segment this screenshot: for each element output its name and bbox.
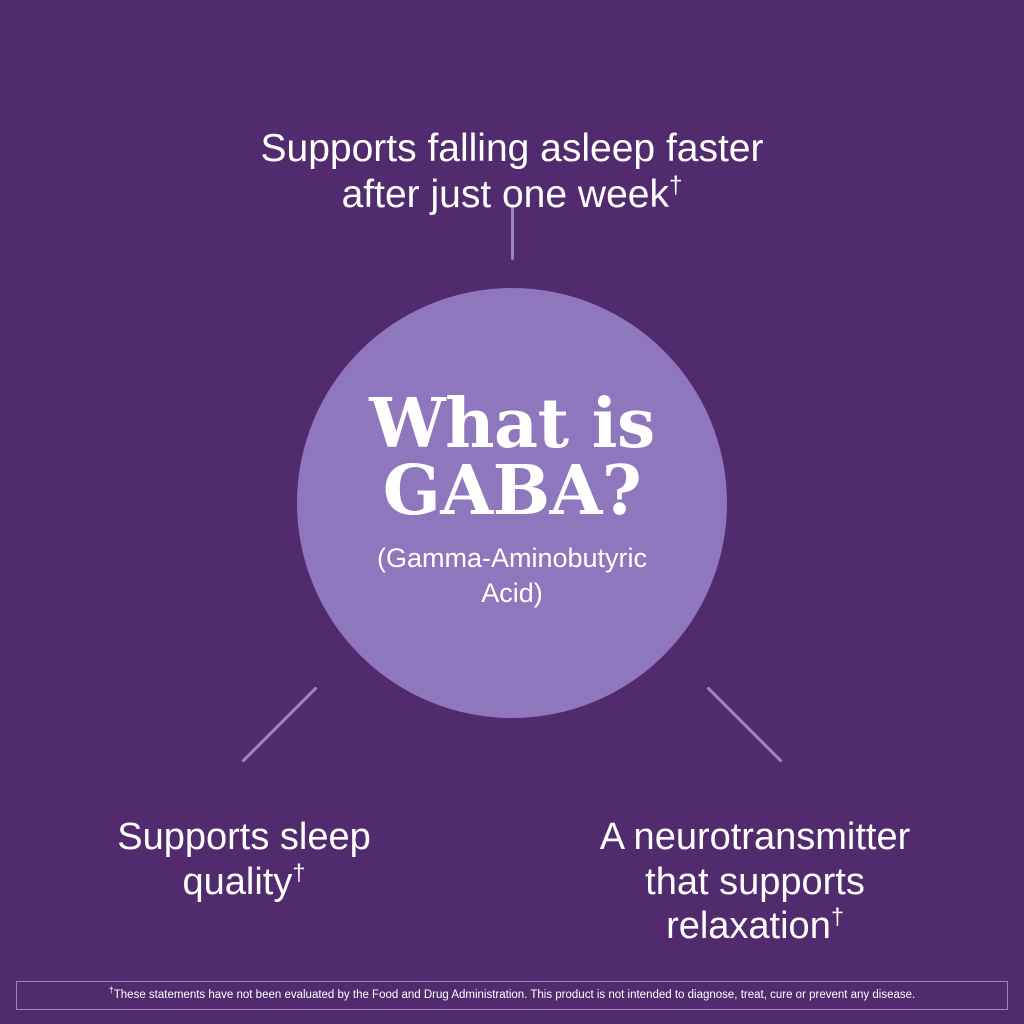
callout-bottom-left-footnote-marker: † — [292, 859, 305, 885]
disclaimer-box: †These statements have not been evaluate… — [16, 981, 1008, 1010]
callout-top-text: Supports falling asleep faster after jus… — [261, 127, 764, 216]
callout-bottom-right-footnote-marker: † — [831, 904, 844, 930]
callout-bottom-left: Supports sleep quality† — [34, 770, 454, 904]
disclaimer-text: †These statements have not been evaluate… — [103, 990, 921, 1002]
connector-line-bottom-left — [241, 686, 317, 762]
disclaimer-body: These statements have not been evaluated… — [114, 989, 915, 1001]
connector-line-bottom-right — [706, 686, 782, 762]
callout-top-footnote-marker: † — [669, 172, 682, 199]
callout-bottom-right-text: A neurotransmitter that supports relaxat… — [600, 816, 910, 948]
callout-top: Supports falling asleep faster after jus… — [172, 80, 852, 218]
callout-bottom-right: A neurotransmitter that supports relaxat… — [540, 770, 970, 949]
center-circle: What is GABA? (Gamma-Aminobutyric Acid) — [297, 288, 727, 718]
gaba-infographic: Supports falling asleep faster after jus… — [0, 0, 1024, 1024]
callout-bottom-left-text: Supports sleep quality — [117, 816, 371, 903]
center-circle-subtitle: (Gamma-Aminobutyric Acid) — [367, 541, 657, 611]
center-circle-title: What is GABA? — [359, 391, 665, 524]
